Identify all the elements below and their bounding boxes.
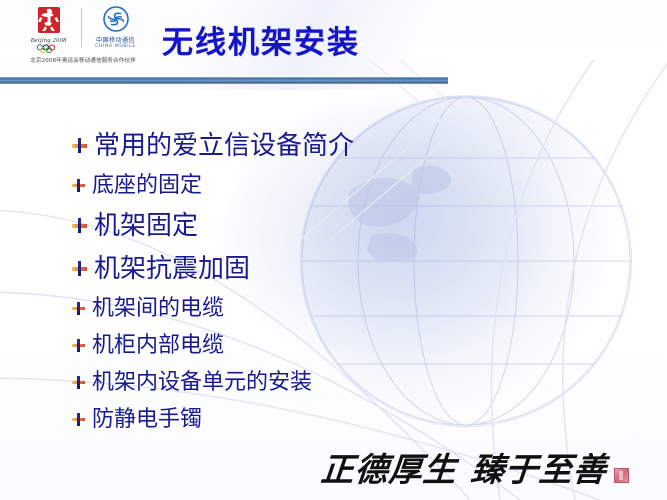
olympic-rings-icon bbox=[35, 44, 63, 53]
motto-right-text: 臻于至善 bbox=[469, 450, 608, 489]
page-title: 无线机架安装 bbox=[162, 17, 360, 62]
logo-group: Beijing 2008 bbox=[18, 6, 148, 66]
bullet-list-item: 机柜内部电缆 bbox=[72, 327, 592, 364]
bullet-list-item: 机架内设备单元的安装 bbox=[72, 364, 592, 401]
olympic-seal-icon bbox=[34, 6, 64, 36]
bullet-item-label: 常用的爱立信设备简介 bbox=[94, 133, 354, 159]
bullet-marker-icon bbox=[72, 218, 87, 233]
bullet-marker-icon bbox=[72, 339, 85, 352]
bullet-list-item: 机架固定 bbox=[72, 204, 592, 247]
red-seal-icon bbox=[614, 468, 629, 483]
china-mobile-en-text: CHINA MOBILE bbox=[95, 44, 136, 49]
motto-left-text: 正德厚生 bbox=[319, 450, 458, 489]
bullet-marker-icon bbox=[72, 413, 85, 426]
title-underline-rule bbox=[0, 76, 448, 84]
bullet-marker-icon bbox=[72, 302, 85, 315]
bullet-item-label: 机柜内部电缆 bbox=[92, 335, 224, 357]
bullet-list-item: 常用的爱立信设备简介 bbox=[72, 124, 592, 167]
presentation-slide: Beijing 2008 bbox=[0, 0, 667, 500]
bullet-item-label: 防静电手镯 bbox=[92, 409, 202, 431]
bullet-marker-icon bbox=[72, 138, 87, 153]
bullet-list-item: 底座的固定 bbox=[72, 167, 592, 204]
bullet-item-label: 机架抗震加固 bbox=[94, 256, 250, 282]
logo-divider bbox=[81, 8, 82, 48]
bullet-marker-icon bbox=[72, 376, 85, 389]
motto-text: 正德厚生臻于至善 bbox=[320, 453, 609, 486]
bullet-item-label: 底座的固定 bbox=[92, 175, 202, 197]
china-mobile-logo: 中国移动通信 CHINA MOBILE bbox=[88, 6, 144, 49]
logo-row: Beijing 2008 bbox=[23, 6, 144, 54]
bullet-item-label: 机架间的电缆 bbox=[92, 298, 224, 320]
bullet-list-item: 机架抗震加固 bbox=[72, 247, 592, 290]
corporate-motto: 正德厚生臻于至善 bbox=[321, 453, 629, 486]
bullet-item-label: 机架固定 bbox=[94, 213, 198, 239]
bullet-marker-icon bbox=[72, 179, 85, 192]
bullet-item-label: 机架内设备单元的安装 bbox=[92, 372, 312, 394]
olympic-partner-tagline: 北京2008年奥运会移动通信服务合作伙伴 bbox=[30, 56, 136, 64]
bullet-list-item: 机架间的电缆 bbox=[72, 290, 592, 327]
china-mobile-cn-text: 中国移动通信 bbox=[96, 34, 135, 44]
bullet-marker-icon bbox=[72, 261, 87, 276]
bullet-list: 常用的爱立信设备简介底座的固定机架固定机架抗震加固机架间的电缆机柜内部电缆机架内… bbox=[72, 124, 592, 438]
bullet-list-item: 防静电手镯 bbox=[72, 401, 592, 438]
olympic-script-text: Beijing 2008 bbox=[31, 37, 67, 44]
slide-header: Beijing 2008 bbox=[0, 0, 667, 90]
beijing-2008-logo: Beijing 2008 bbox=[23, 6, 75, 53]
china-mobile-mark-icon bbox=[103, 6, 129, 32]
